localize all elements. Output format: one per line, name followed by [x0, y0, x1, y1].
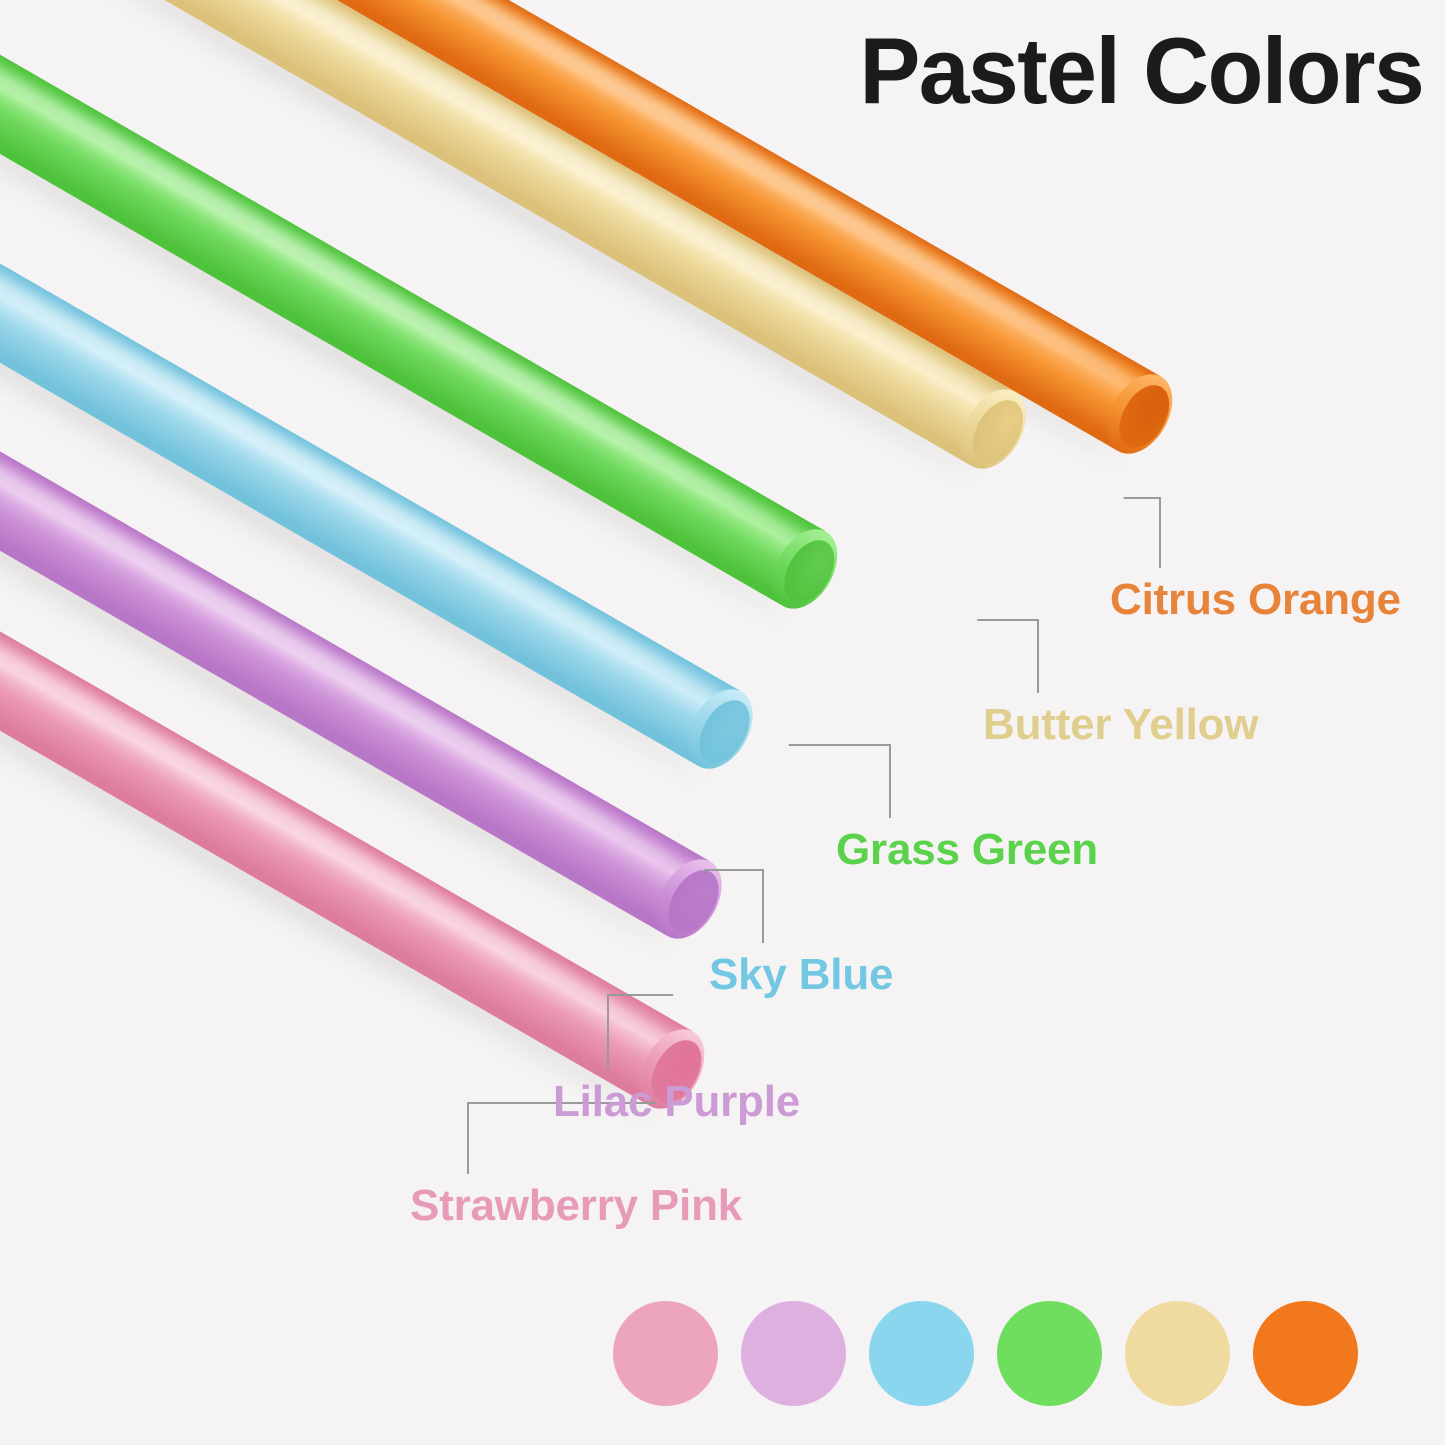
swatch-strawberry-pink: [613, 1301, 718, 1406]
label-sky-blue: Sky Blue: [709, 950, 893, 1000]
swatch-citrus-orange: [1253, 1301, 1358, 1406]
product-infographic: Pastel Colors Citrus Orange Butter Yello…: [0, 0, 1445, 1445]
label-butter-yellow: Butter Yellow: [983, 700, 1258, 750]
label-strawberry-pink: Strawberry Pink: [410, 1181, 742, 1231]
label-grass-green: Grass Green: [836, 825, 1098, 875]
swatch-butter-yellow: [1125, 1301, 1230, 1406]
page-title: Pastel Colors: [859, 22, 1423, 121]
swatch-sky-blue: [869, 1301, 974, 1406]
swatch-grass-green: [997, 1301, 1102, 1406]
swatch-lilac-purple: [741, 1301, 846, 1406]
label-citrus-orange: Citrus Orange: [1110, 575, 1401, 625]
color-swatch-row: [613, 1301, 1358, 1406]
label-lilac-purple: Lilac Purple: [553, 1077, 800, 1127]
